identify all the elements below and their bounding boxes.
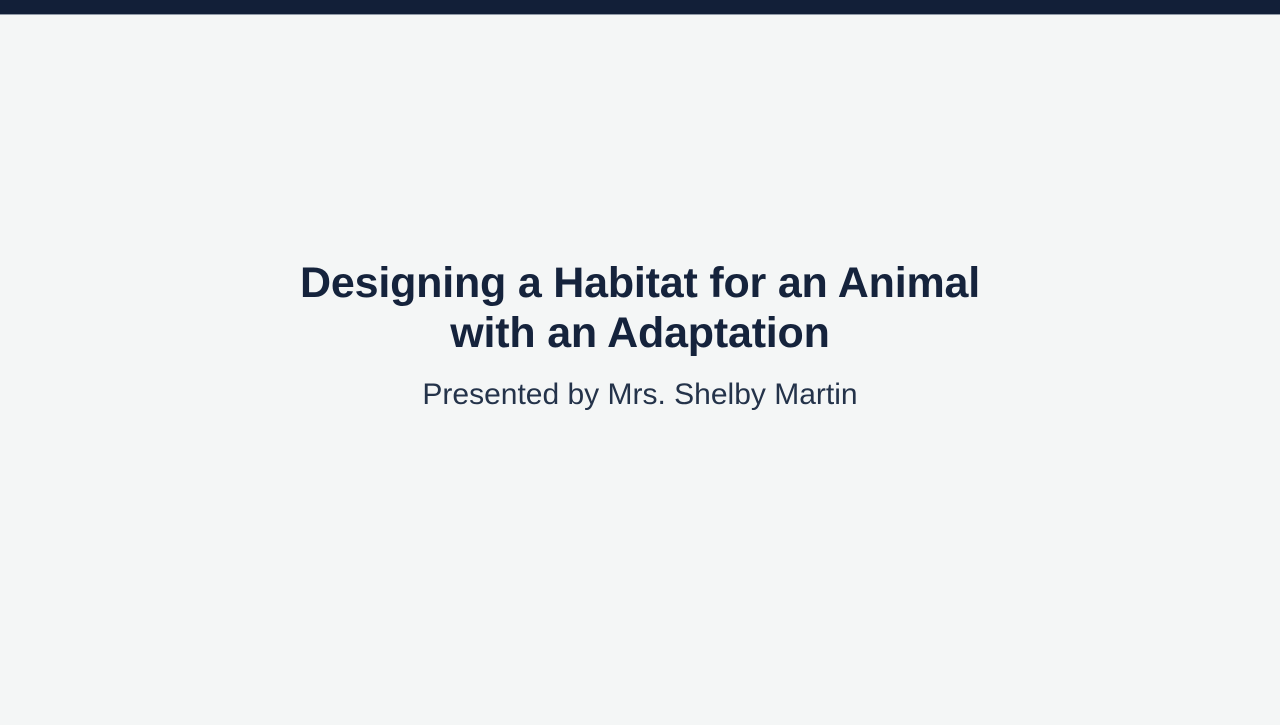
presentation-window: Designing a Habitat for an Animal with a…: [0, 0, 1280, 725]
slide-surface[interactable]: Designing a Habitat for an Animal with a…: [0, 15, 1280, 725]
slide-title: Designing a Habitat for an Animal with a…: [290, 258, 990, 358]
slide-title-block: Designing a Habitat for an Animal with a…: [0, 15, 1280, 725]
slide-subtitle: Presented by Mrs. Shelby Martin: [210, 376, 1070, 414]
top-chrome-bar: [0, 0, 1280, 14]
